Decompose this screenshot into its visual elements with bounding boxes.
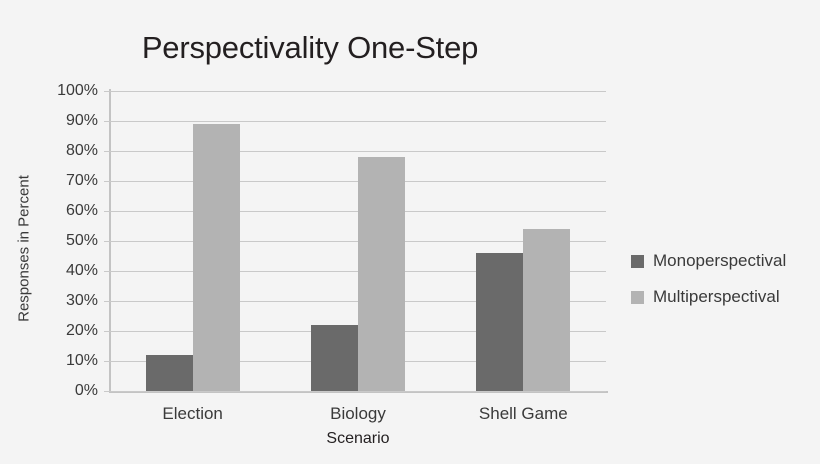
y-axis-tick-label: 40% — [28, 263, 98, 279]
y-axis-tick-label: 80% — [28, 143, 98, 159]
bar-biology-monoperspectival — [311, 325, 358, 391]
x-axis-title: Scenario — [110, 430, 606, 448]
plot-area — [110, 91, 606, 391]
bar-election-multiperspectival — [193, 124, 240, 391]
legend-swatch-icon — [631, 255, 644, 268]
x-axis-tick-label: Biology — [278, 404, 438, 424]
bar-shell-game-multiperspectival — [523, 229, 570, 391]
bar-biology-multiperspectival — [358, 157, 405, 391]
y-axis-tick-label: 100% — [28, 83, 98, 99]
gridline — [110, 121, 606, 122]
gridline — [110, 151, 606, 152]
y-axis-tick-label: 90% — [28, 113, 98, 129]
legend-label: Multiperspectival — [653, 287, 780, 307]
legend-item[interactable]: Multiperspectival — [631, 279, 786, 315]
y-axis-tick — [104, 301, 110, 302]
y-axis-tick — [104, 361, 110, 362]
chart-legend: MonoperspectivalMultiperspectival — [631, 243, 786, 315]
bar-election-monoperspectival — [146, 355, 193, 391]
legend-label: Monoperspectival — [653, 251, 786, 271]
bar-shell-game-monoperspectival — [476, 253, 523, 391]
gridline — [110, 91, 606, 92]
y-axis-tick-label: 0% — [28, 383, 98, 399]
gridline — [110, 391, 606, 392]
y-axis-tick — [104, 121, 110, 122]
y-axis-tick — [104, 91, 110, 92]
x-axis-tick-label: Election — [113, 404, 273, 424]
y-axis-tick-label: 70% — [28, 173, 98, 189]
chart-title: Perspectivality One-Step — [0, 30, 620, 66]
y-axis-tick — [104, 181, 110, 182]
y-axis-tick — [104, 211, 110, 212]
y-axis-tick — [104, 151, 110, 152]
bar-chart: Perspectivality One-Step Responses in Pe… — [0, 0, 820, 464]
y-axis-tick-label: 20% — [28, 323, 98, 339]
y-axis-tick-label: 10% — [28, 353, 98, 369]
y-axis-tick — [104, 331, 110, 332]
y-axis-tick — [104, 241, 110, 242]
y-axis-tick-label: 30% — [28, 293, 98, 309]
y-axis-tick-label: 60% — [28, 203, 98, 219]
legend-item[interactable]: Monoperspectival — [631, 243, 786, 279]
x-axis-tick-label: Shell Game — [443, 404, 603, 424]
y-axis-tick — [104, 391, 110, 392]
y-axis-tick-label: 50% — [28, 233, 98, 249]
y-axis-tick — [104, 271, 110, 272]
legend-swatch-icon — [631, 291, 644, 304]
